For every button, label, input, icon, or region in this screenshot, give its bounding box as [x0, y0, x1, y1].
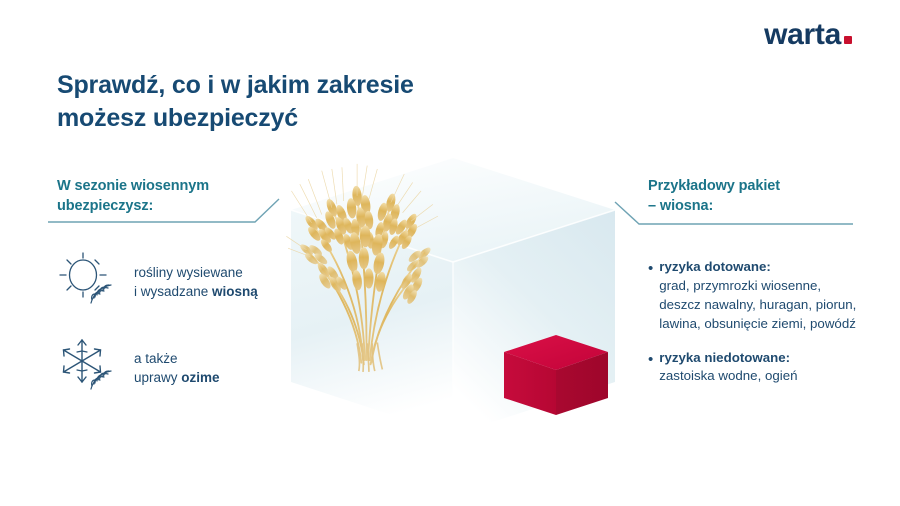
page-title-line-1: Sprawdź, co i w jakim zakresie — [57, 69, 527, 102]
list-item: • ryzyka niedotowane: zastoiska wodne, o… — [648, 349, 863, 387]
snowflake-with-wheat-icon — [58, 337, 120, 395]
feature-item-1-line-2-plain: i wysadzane — [134, 284, 212, 299]
warta-logo: warta — [764, 20, 852, 50]
feature-item-1-line-1: rośliny wysiewane — [134, 265, 243, 280]
slide-canvas: warta Sprawdź, co i w jakim zakresie moż… — [0, 0, 900, 506]
sun-with-wheat-icon — [58, 251, 120, 309]
feature-item-2-line-2-bold: ozime — [181, 370, 219, 385]
bullet-marker-icon: • — [648, 258, 653, 334]
logo-dot-icon — [844, 36, 852, 44]
feature-item-winter-crops: a także uprawy ozime — [58, 337, 220, 395]
bullet-1-text: ryzyka dotowane: grad, przymrozki wiosen… — [659, 258, 863, 334]
feature-item-1-text: rośliny wysiewane i wysadzane wiosną — [134, 251, 258, 301]
right-column-heading-line-1: Przykładowy pakiet — [648, 176, 780, 196]
red-cube-icon — [283, 150, 623, 450]
bullet-2-title: ryzyka niedotowane: — [659, 349, 797, 368]
bullet-2-text: ryzyka niedotowane: zastoiska wodne, ogi… — [659, 349, 797, 387]
page-title-line-2: możesz ubezpieczyć — [57, 102, 527, 135]
feature-item-2-line-2-plain: uprawy — [134, 370, 181, 385]
right-heading-underline — [612, 199, 858, 229]
page-title: Sprawdź, co i w jakim zakresie możesz ub… — [57, 69, 527, 135]
logo-wordmark: warta — [764, 20, 841, 50]
risk-bullet-list: • ryzyka dotowane: grad, przymrozki wios… — [648, 258, 863, 401]
feature-item-2-text: a także uprawy ozime — [134, 337, 220, 387]
bullet-1-body: grad, przymrozki wiosenne, deszcz nawaln… — [659, 277, 863, 334]
left-column-heading-line-1: W sezonie wiosennym — [57, 176, 209, 196]
bullet-1-title: ryzyka dotowane: — [659, 258, 863, 277]
list-item: • ryzyka dotowane: grad, przymrozki wios… — [648, 258, 863, 334]
feature-item-2-line-1: a także — [134, 351, 178, 366]
feature-item-1-line-2-bold: wiosną — [212, 284, 258, 299]
central-illustration — [283, 150, 623, 450]
feature-item-spring-crops: rośliny wysiewane i wysadzane wiosną — [58, 251, 258, 309]
bullet-marker-icon: • — [648, 349, 653, 387]
left-heading-underline — [47, 196, 287, 226]
bullet-2-body: zastoiska wodne, ogień — [659, 367, 797, 386]
